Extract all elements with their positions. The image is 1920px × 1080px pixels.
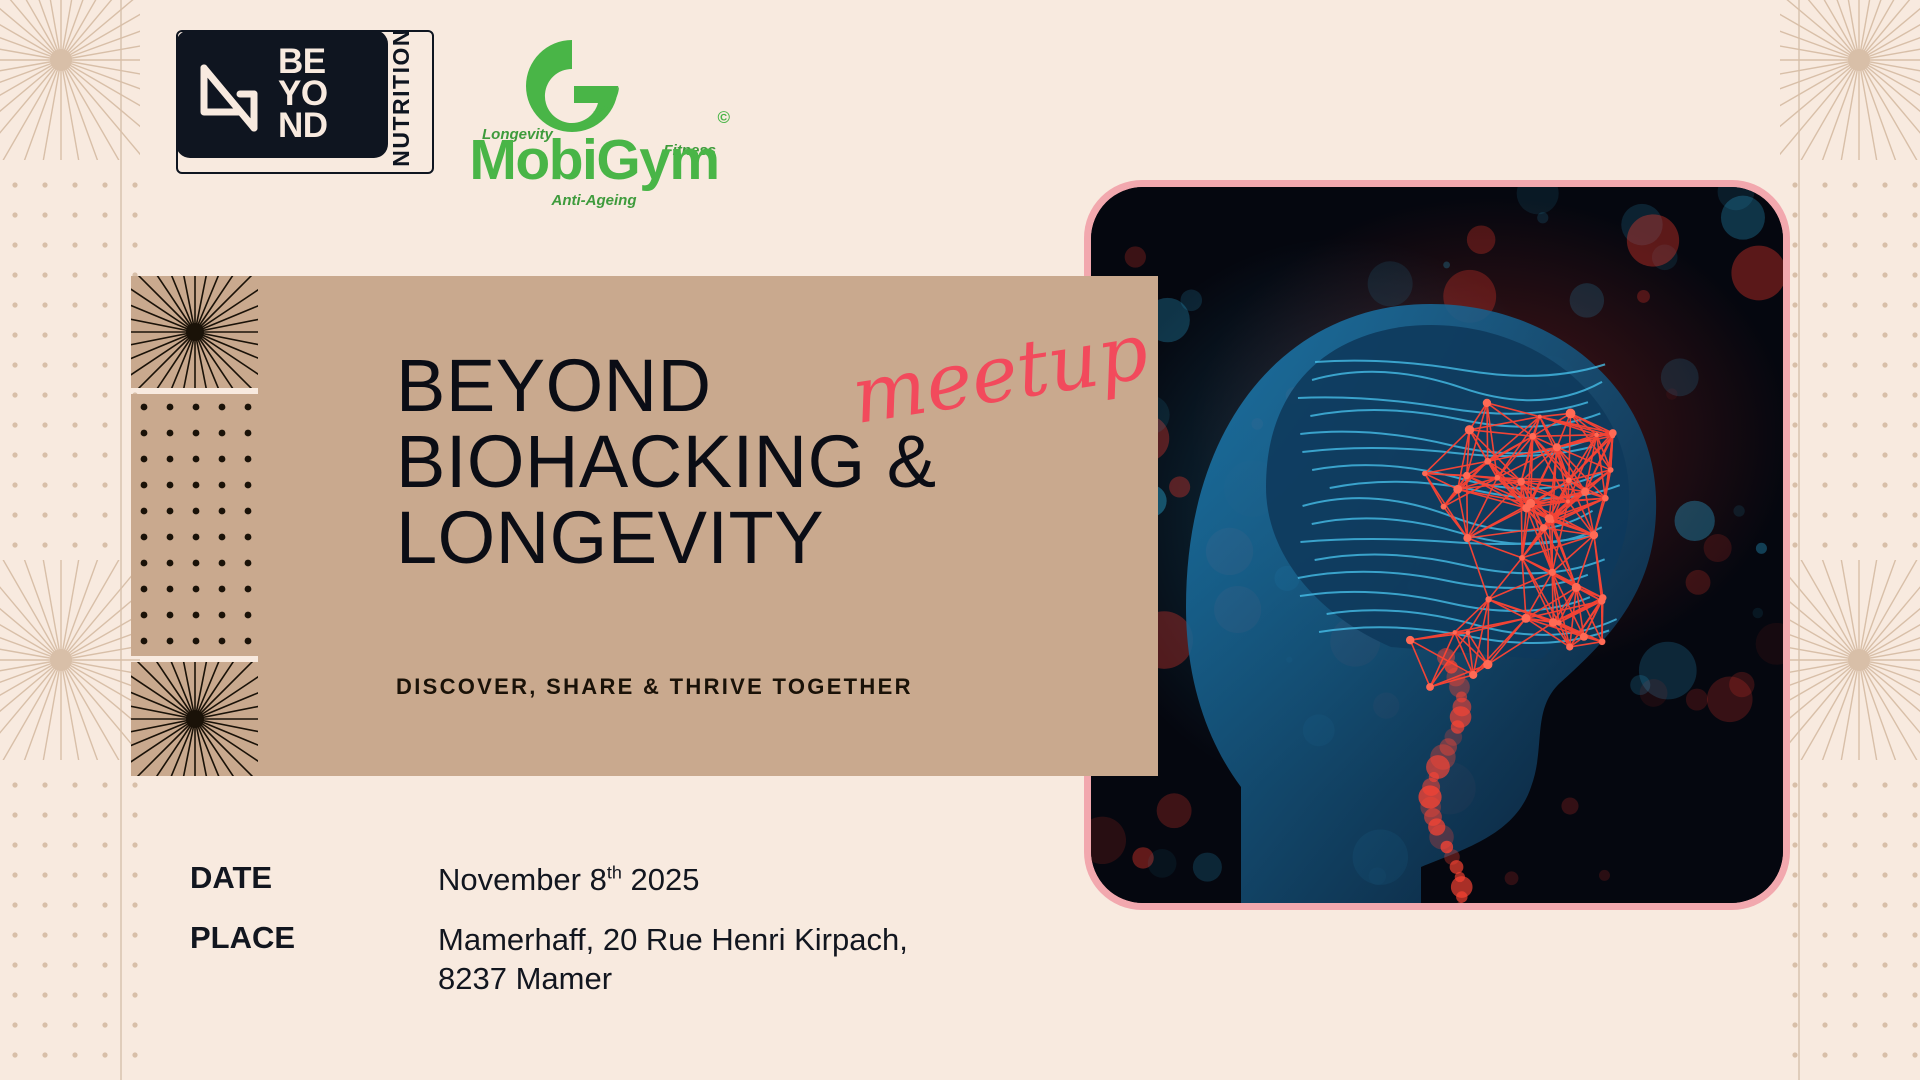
beyond-word-line3: ND bbox=[278, 110, 328, 142]
mobigym-tag-anti-ageing: Anti-Ageing bbox=[552, 192, 637, 209]
place-line-2: 8237 Mamer bbox=[438, 959, 908, 999]
card-pattern-strip bbox=[131, 276, 259, 776]
title-line-3: LONGEVITY bbox=[396, 500, 1158, 576]
event-details: DATE November 8th 2025 PLACE Mamerhaff, … bbox=[190, 860, 908, 1019]
beyond-logo-card: BE YO ND bbox=[176, 30, 388, 158]
nutrition-vertical-label: NUTRITION bbox=[390, 38, 413, 156]
mobigym-wordmark: MobiGym bbox=[444, 132, 744, 189]
brain-neural-network-image bbox=[1091, 187, 1783, 903]
mobigym-logo: MobiGym Longevity Fitness Anti-Ageing © bbox=[444, 30, 744, 189]
sunburst-ornament bbox=[0, 560, 140, 760]
date-main: November 8 bbox=[438, 862, 607, 897]
sunburst-ornament-dark bbox=[131, 662, 259, 776]
beyond-wordmark: BE YO ND bbox=[278, 46, 328, 143]
hero-image-frame bbox=[1084, 180, 1790, 910]
title-line-2: BIOHACKING & bbox=[396, 424, 1158, 500]
sunburst-ornament bbox=[1780, 560, 1920, 760]
dot-grid-ornament bbox=[0, 770, 140, 1080]
dot-grid-ornament bbox=[0, 170, 140, 570]
sunburst-ornament-dark bbox=[131, 276, 259, 388]
date-year: 2025 bbox=[622, 862, 700, 897]
mobigym-g-icon bbox=[514, 32, 674, 140]
left-border-ornament bbox=[0, 0, 140, 1080]
beyond-monogram-icon bbox=[192, 50, 272, 138]
beyond-nutrition-logo: BE YO ND NUTRITION bbox=[176, 30, 388, 158]
logo-row: BE YO ND NUTRITION MobiGym Longevity Fit… bbox=[176, 30, 744, 189]
sunburst-ornament bbox=[1780, 0, 1920, 160]
dot-grid-ornament-dark bbox=[131, 394, 259, 656]
detail-value-date: November 8th 2025 bbox=[438, 860, 699, 900]
dot-grid-ornament bbox=[1780, 170, 1920, 570]
detail-value-place: Mamerhaff, 20 Rue Henri Kirpach, 8237 Ma… bbox=[438, 920, 908, 999]
detail-label-place: PLACE bbox=[190, 920, 438, 999]
tagline: DISCOVER, SHARE & THRIVE TOGETHER bbox=[396, 674, 913, 700]
sunburst-ornament bbox=[0, 0, 140, 160]
place-line-1: Mamerhaff, 20 Rue Henri Kirpach, bbox=[438, 920, 908, 960]
right-border-ornament bbox=[1780, 0, 1920, 1080]
detail-row-place: PLACE Mamerhaff, 20 Rue Henri Kirpach, 8… bbox=[190, 920, 908, 999]
dot-grid-ornament bbox=[1780, 770, 1920, 1080]
detail-label-date: DATE bbox=[190, 860, 438, 900]
date-suffix: th bbox=[607, 863, 622, 883]
detail-row-date: DATE November 8th 2025 bbox=[190, 860, 908, 900]
copyright-icon: © bbox=[717, 108, 730, 128]
